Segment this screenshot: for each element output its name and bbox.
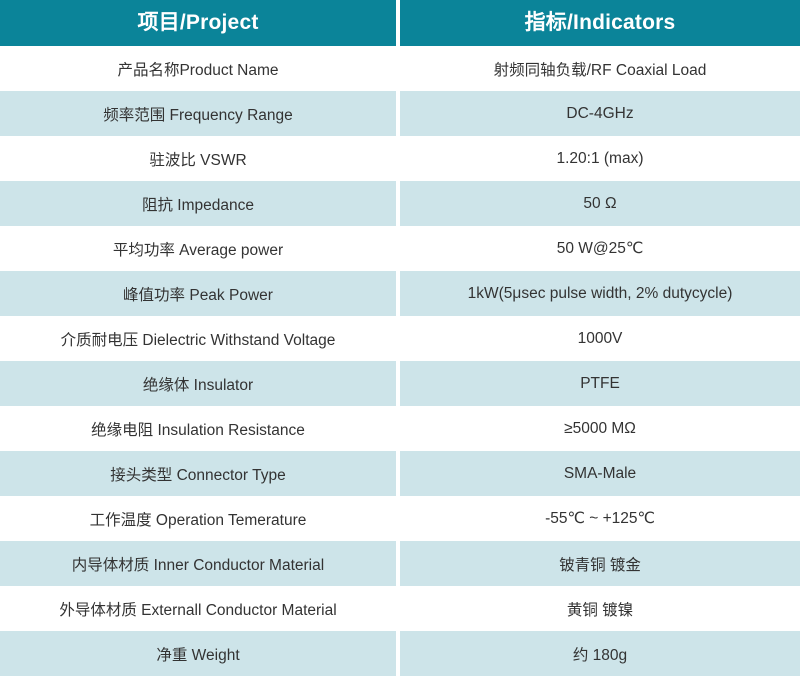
cell-indicator: 50 Ω xyxy=(400,181,800,226)
cell-indicator: 射频同轴负载/RF Coaxial Load xyxy=(400,46,800,91)
table-row: 绝缘电阻 Insulation Resistance≥5000 MΩ xyxy=(0,406,800,451)
cell-indicator: 黄铜 镀镍 xyxy=(400,586,800,631)
cell-project: 频率范围 Frequency Range xyxy=(0,91,396,136)
specification-table: 项目/Project 指标/Indicators 产品名称Product Nam… xyxy=(0,0,800,676)
table-row: 平均功率 Average power50 W@25℃ xyxy=(0,226,800,271)
cell-indicator: 50 W@25℃ xyxy=(400,226,800,271)
cell-indicator: ≥5000 MΩ xyxy=(400,406,800,451)
table-header-row: 项目/Project 指标/Indicators xyxy=(0,0,800,46)
cell-project: 接头类型 Connector Type xyxy=(0,451,396,496)
cell-indicator: 1000V xyxy=(400,316,800,361)
table-row: 频率范围 Frequency RangeDC-4GHz xyxy=(0,91,800,136)
table-row: 绝缘体 InsulatorPTFE xyxy=(0,361,800,406)
cell-project: 外导体材质 Externall Conductor Material xyxy=(0,586,396,631)
cell-indicator: PTFE xyxy=(400,361,800,406)
cell-project: 驻波比 VSWR xyxy=(0,136,396,181)
table-row: 阻抗 Impedance50 Ω xyxy=(0,181,800,226)
table-header: 项目/Project 指标/Indicators xyxy=(0,0,800,46)
cell-indicator: 1.20:1 (max) xyxy=(400,136,800,181)
cell-indicator: 铍青铜 镀金 xyxy=(400,541,800,586)
cell-indicator: SMA-Male xyxy=(400,451,800,496)
table-row: 外导体材质 Externall Conductor Material黄铜 镀镍 xyxy=(0,586,800,631)
cell-project: 净重 Weight xyxy=(0,631,396,676)
cell-project: 绝缘电阻 Insulation Resistance xyxy=(0,406,396,451)
column-header-indicators: 指标/Indicators xyxy=(400,0,800,46)
cell-indicator: 1kW(5μsec pulse width, 2% dutycycle) xyxy=(400,271,800,316)
cell-indicator: -55℃ ~ +125℃ xyxy=(400,496,800,541)
cell-project: 介质耐电压 Dielectric Withstand Voltage xyxy=(0,316,396,361)
table-body: 产品名称Product Name射频同轴负载/RF Coaxial Load频率… xyxy=(0,46,800,676)
table-row: 介质耐电压 Dielectric Withstand Voltage1000V xyxy=(0,316,800,361)
cell-project: 峰值功率 Peak Power xyxy=(0,271,396,316)
cell-project: 阻抗 Impedance xyxy=(0,181,396,226)
cell-project: 工作温度 Operation Temerature xyxy=(0,496,396,541)
table-row: 接头类型 Connector TypeSMA-Male xyxy=(0,451,800,496)
table-row: 净重 Weight约 180g xyxy=(0,631,800,676)
table-row: 工作温度 Operation Temerature-55℃ ~ +125℃ xyxy=(0,496,800,541)
cell-indicator: DC-4GHz xyxy=(400,91,800,136)
cell-indicator: 约 180g xyxy=(400,631,800,676)
cell-project: 产品名称Product Name xyxy=(0,46,396,91)
cell-project: 绝缘体 Insulator xyxy=(0,361,396,406)
column-header-project: 项目/Project xyxy=(0,0,396,46)
table-row: 产品名称Product Name射频同轴负载/RF Coaxial Load xyxy=(0,46,800,91)
table-row: 峰值功率 Peak Power1kW(5μsec pulse width, 2%… xyxy=(0,271,800,316)
table-row: 内导体材质 Inner Conductor Material铍青铜 镀金 xyxy=(0,541,800,586)
cell-project: 内导体材质 Inner Conductor Material xyxy=(0,541,396,586)
cell-project: 平均功率 Average power xyxy=(0,226,396,271)
table-row: 驻波比 VSWR1.20:1 (max) xyxy=(0,136,800,181)
